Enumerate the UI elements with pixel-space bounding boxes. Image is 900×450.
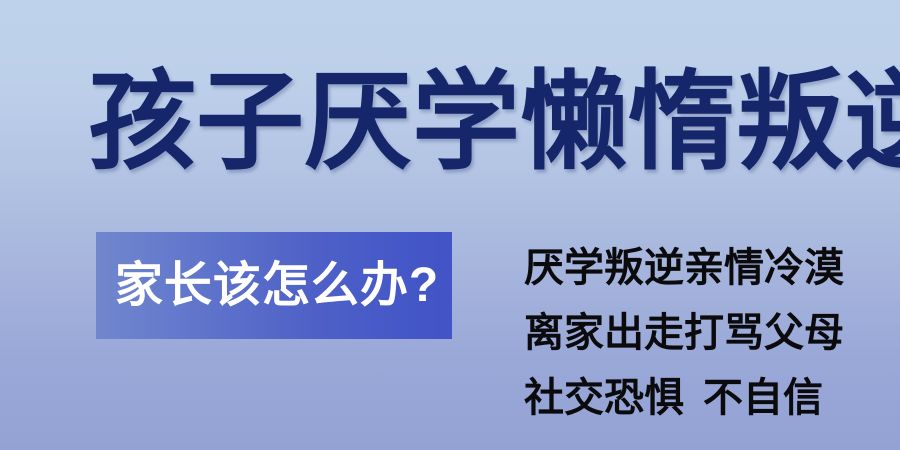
symptom-label: 打骂父母 [684, 301, 844, 366]
headline-part-1: 孩子厌学 [88, 68, 520, 176]
symptom-row: 厌学叛逆 亲情冷漠 [524, 236, 824, 301]
callout-text: 家长该怎么办? [96, 232, 452, 339]
poster-canvas: 孩子厌学 懒惰 叛逆 家长该怎么办? 厌学叛逆 亲情冷漠 离家出走 打骂父母 社… [0, 0, 900, 450]
symptom-label: 厌学叛逆 [524, 236, 684, 301]
headline-part-3: 叛逆 [736, 68, 900, 176]
headline-part-2: 懒惰 [520, 68, 736, 176]
callout-box: 家长该怎么办? [96, 232, 452, 339]
symptom-label: 不自信 [703, 366, 823, 431]
symptom-list: 厌学叛逆 亲情冷漠 离家出走 打骂父母 社交恐惧 不自信 [524, 236, 824, 431]
symptom-row: 社交恐惧 不自信 [524, 366, 824, 431]
headline-title: 孩子厌学 懒惰 叛逆 [88, 57, 828, 187]
symptom-label: 离家出走 [524, 301, 684, 366]
symptom-label: 社交恐惧 [524, 366, 684, 431]
symptom-label: 亲情冷漠 [684, 236, 844, 301]
symptom-row: 离家出走 打骂父母 [524, 301, 824, 366]
